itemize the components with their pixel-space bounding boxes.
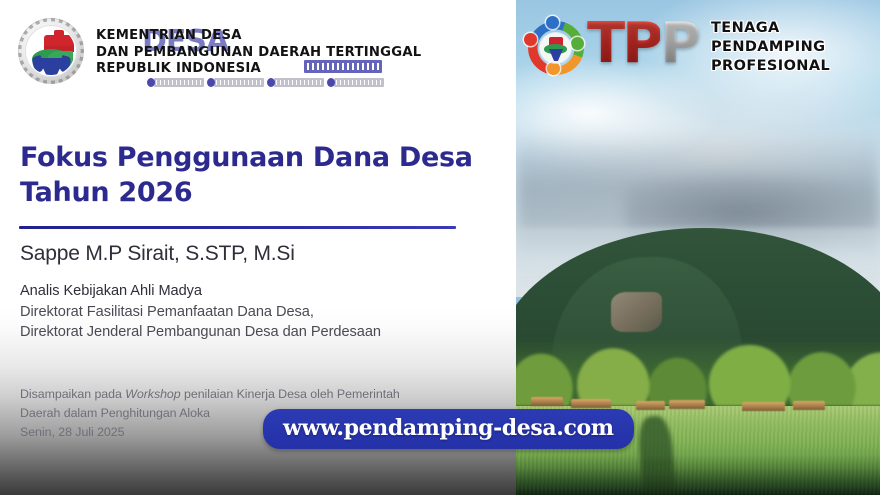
photo-village-house [636, 401, 665, 410]
tpp-core-blue [549, 49, 563, 61]
photo-treeline [516, 337, 880, 406]
photo-village-house [742, 402, 786, 411]
speaker-name: Sappe M.P Sirait, S.STP, M.Si [20, 240, 490, 268]
ministry-header: DESA KEMENTRIAN DESA DAN PEMBANGUNAN DAE… [14, 12, 504, 90]
ministry-name-line-2: DAN PEMBANGUNAN DAERAH TERTINGGAL [96, 45, 501, 62]
watermark-tagline [154, 78, 384, 87]
speaker-unit-2: Direktorat Jenderal Pembangunan Desa dan… [20, 322, 505, 343]
speaker-affiliation: Analis Kebijakan Ahli Madya Direktorat F… [20, 281, 505, 343]
tpp-circle-people-icon [523, 17, 589, 79]
ministry-name-line-1: KEMENTRIAN DESA [96, 28, 501, 45]
footnote-prefix: Disampaikan pada [20, 387, 125, 401]
photo-village-house [793, 401, 826, 410]
tpp-subtitle-line-1: TENAGA [711, 19, 880, 38]
tpp-wordmark-tp: TP [587, 11, 660, 76]
presentation-title-slide: DESA KEMENTRIAN DESA DAN PEMBANGUNAN DAE… [0, 0, 880, 495]
tpp-wordmark: TPP [587, 8, 698, 80]
watermark-tag-4 [334, 78, 384, 87]
tpp-wordmark-p: P [660, 11, 698, 76]
photo-bottom-shade [516, 455, 880, 495]
speaker-unit-1: Direktorat Fasilitasi Pemanfaatan Dana D… [20, 302, 505, 323]
photo-village-house [571, 399, 611, 408]
title-divider [19, 226, 456, 229]
website-url-text: www.pendamping-desa.com [283, 415, 614, 441]
ministry-emblem-icon [18, 18, 84, 84]
ministry-name: KEMENTRIAN DESA DAN PEMBANGUNAN DAERAH T… [96, 28, 501, 78]
tpp-subtitle: TENAGA PENDAMPING PROFESIONAL [711, 19, 880, 76]
page-title-line-2: Tahun 2026 [20, 175, 490, 210]
tpp-logo: TPP TENAGA PENDAMPING PROFESIONAL [521, 8, 873, 86]
emblem-inner [27, 27, 75, 75]
ministry-name-line-3: REPUBLIK INDONESIA [96, 61, 501, 78]
watermark-tag-2 [214, 78, 264, 87]
tpp-subtitle-line-3: PROFESIONAL [711, 57, 880, 76]
photo-rock-face [611, 292, 662, 332]
event-footnote-line-1: Disampaikan pada Workshop penilaian Kine… [20, 385, 510, 404]
tpp-person-green-icon [571, 37, 584, 50]
tpp-person-orange-icon [547, 62, 560, 75]
watermark-tag-3 [274, 78, 324, 87]
page-title-line-1: Fokus Penggunaan Dana Desa [20, 140, 490, 175]
tpp-core-emblem-icon [540, 33, 571, 63]
speaker-role: Analis Kebijakan Ahli Madya [20, 281, 505, 302]
tpp-person-blue-icon [546, 16, 559, 29]
footnote-emphasis: Workshop [125, 387, 180, 401]
photo-village-house [531, 397, 564, 406]
footnote-suffix: penilaian Kinerja Desa oleh Pemerintah [181, 387, 400, 401]
tpp-subtitle-line-2: PENDAMPING [711, 38, 880, 57]
watermark-tag-1 [154, 78, 204, 87]
tpp-person-red-icon [524, 33, 537, 46]
page-title: Fokus Penggunaan Dana Desa Tahun 2026 [20, 140, 490, 210]
photo-village-house [669, 400, 705, 409]
website-url-badge[interactable]: www.pendamping-desa.com [263, 409, 634, 449]
